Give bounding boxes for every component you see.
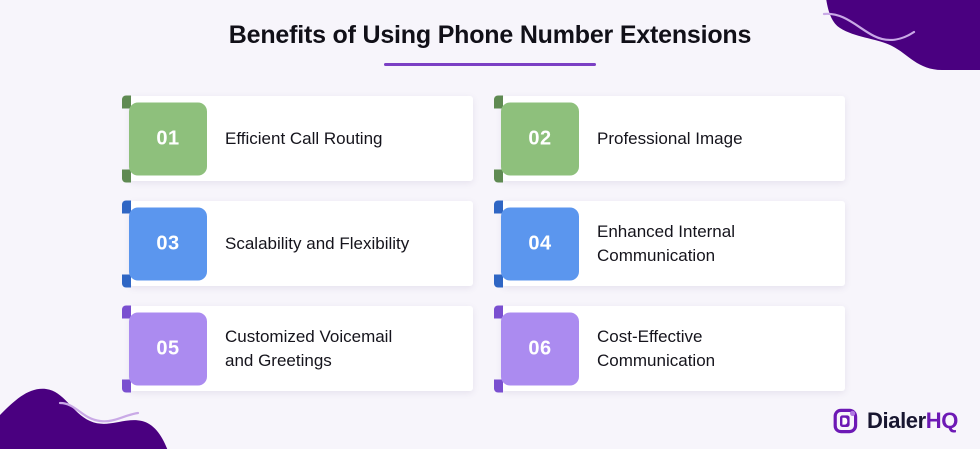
benefit-card[interactable]: 05 Customized Voicemail and Greetings (130, 306, 473, 391)
ribbon-badge: 03 (122, 200, 207, 287)
ribbon-badge: 02 (494, 95, 579, 182)
ribbon-badge: 05 (122, 305, 207, 392)
brand-name-primary: Dialer (867, 408, 926, 433)
benefit-card[interactable]: 04 Enhanced Internal Communication (502, 201, 845, 286)
brand-name-accent: HQ (926, 408, 958, 433)
ribbon-flag: 02 (501, 102, 579, 175)
benefit-card[interactable]: 02 Professional Image (502, 96, 845, 181)
benefit-card[interactable]: 03 Scalability and Flexibility (130, 201, 473, 286)
ribbon-badge: 01 (122, 95, 207, 182)
ribbon-flag: 04 (501, 207, 579, 280)
ribbon-flag: 05 (129, 312, 207, 385)
title-underline-accent (384, 63, 596, 66)
ribbon-badge: 04 (494, 200, 579, 287)
card-number: 04 (528, 234, 551, 254)
card-label: Enhanced Internal Communication (597, 220, 735, 268)
card-number: 06 (528, 339, 551, 359)
benefit-card[interactable]: 06 Cost-Effective Communication (502, 306, 845, 391)
title-block: Benefits of Using Phone Number Extension… (0, 18, 980, 66)
brand-logo[interactable]: DialerHQ (831, 407, 958, 435)
ribbon-flag: 01 (129, 102, 207, 175)
card-number: 03 (156, 234, 179, 254)
infographic-canvas: Benefits of Using Phone Number Extension… (0, 0, 980, 449)
dialerhq-logo-mark-icon (831, 407, 859, 435)
ribbon-badge: 06 (494, 305, 579, 392)
card-label: Efficient Call Routing (225, 127, 383, 151)
card-number: 05 (156, 339, 179, 359)
card-label: Scalability and Flexibility (225, 232, 409, 256)
card-number: 02 (528, 129, 551, 149)
brand-wordmark: DialerHQ (867, 410, 958, 432)
benefits-grid: 01 Efficient Call Routing 02 Professiona… (130, 96, 845, 391)
ribbon-flag: 06 (501, 312, 579, 385)
card-label: Professional Image (597, 127, 743, 151)
page-title: Benefits of Using Phone Number Extension… (0, 18, 980, 52)
card-label: Cost-Effective Communication (597, 325, 715, 373)
card-label: Customized Voicemail and Greetings (225, 325, 392, 373)
card-number: 01 (156, 129, 179, 149)
ribbon-flag: 03 (129, 207, 207, 280)
benefit-card[interactable]: 01 Efficient Call Routing (130, 96, 473, 181)
